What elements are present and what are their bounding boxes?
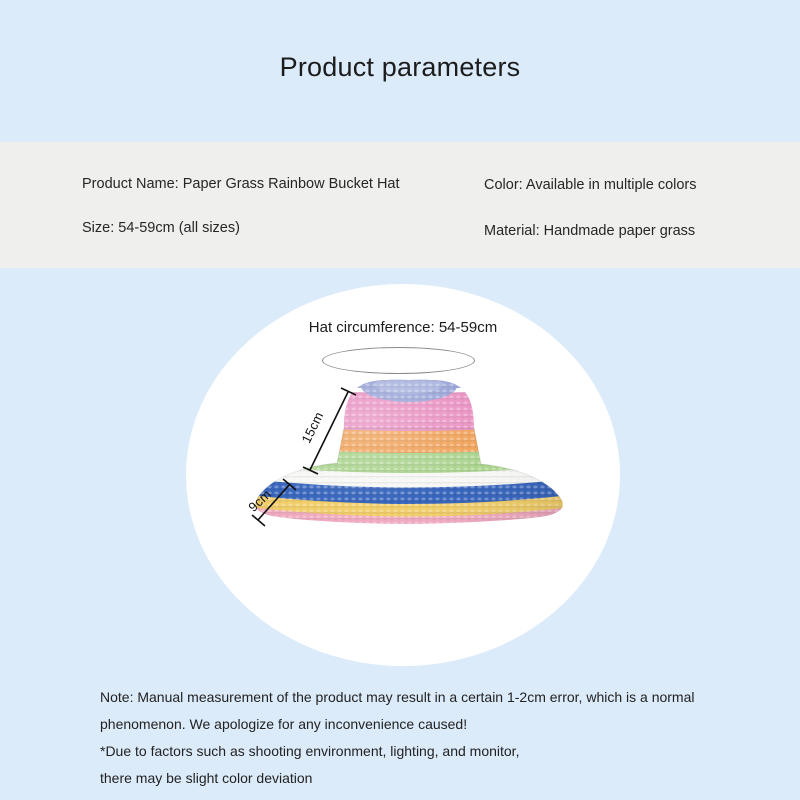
page-title: Product parameters — [0, 52, 800, 83]
hat-graphic — [0, 268, 800, 663]
note-block: Note: Manual measurement of the product … — [100, 684, 740, 792]
spec-material: Material: Handmade paper grass — [484, 224, 695, 239]
spec-product-name: Product Name: Paper Grass Rainbow Bucket… — [82, 177, 400, 192]
hat-illustration: Hat circumference: 54-59cm — [0, 268, 800, 663]
spec-size: Size: 54-59cm (all sizes) — [82, 221, 240, 236]
spec-panel: Product Name: Paper Grass Rainbow Bucket… — [0, 142, 800, 268]
note-line: phenomenon. We apologize for any inconve… — [100, 711, 740, 738]
spec-color: Color: Available in multiple colors — [484, 178, 697, 193]
note-line: Note: Manual measurement of the product … — [100, 684, 740, 711]
note-line: *Due to factors such as shooting environ… — [100, 738, 740, 765]
note-line: there may be slight color deviation — [100, 765, 740, 792]
